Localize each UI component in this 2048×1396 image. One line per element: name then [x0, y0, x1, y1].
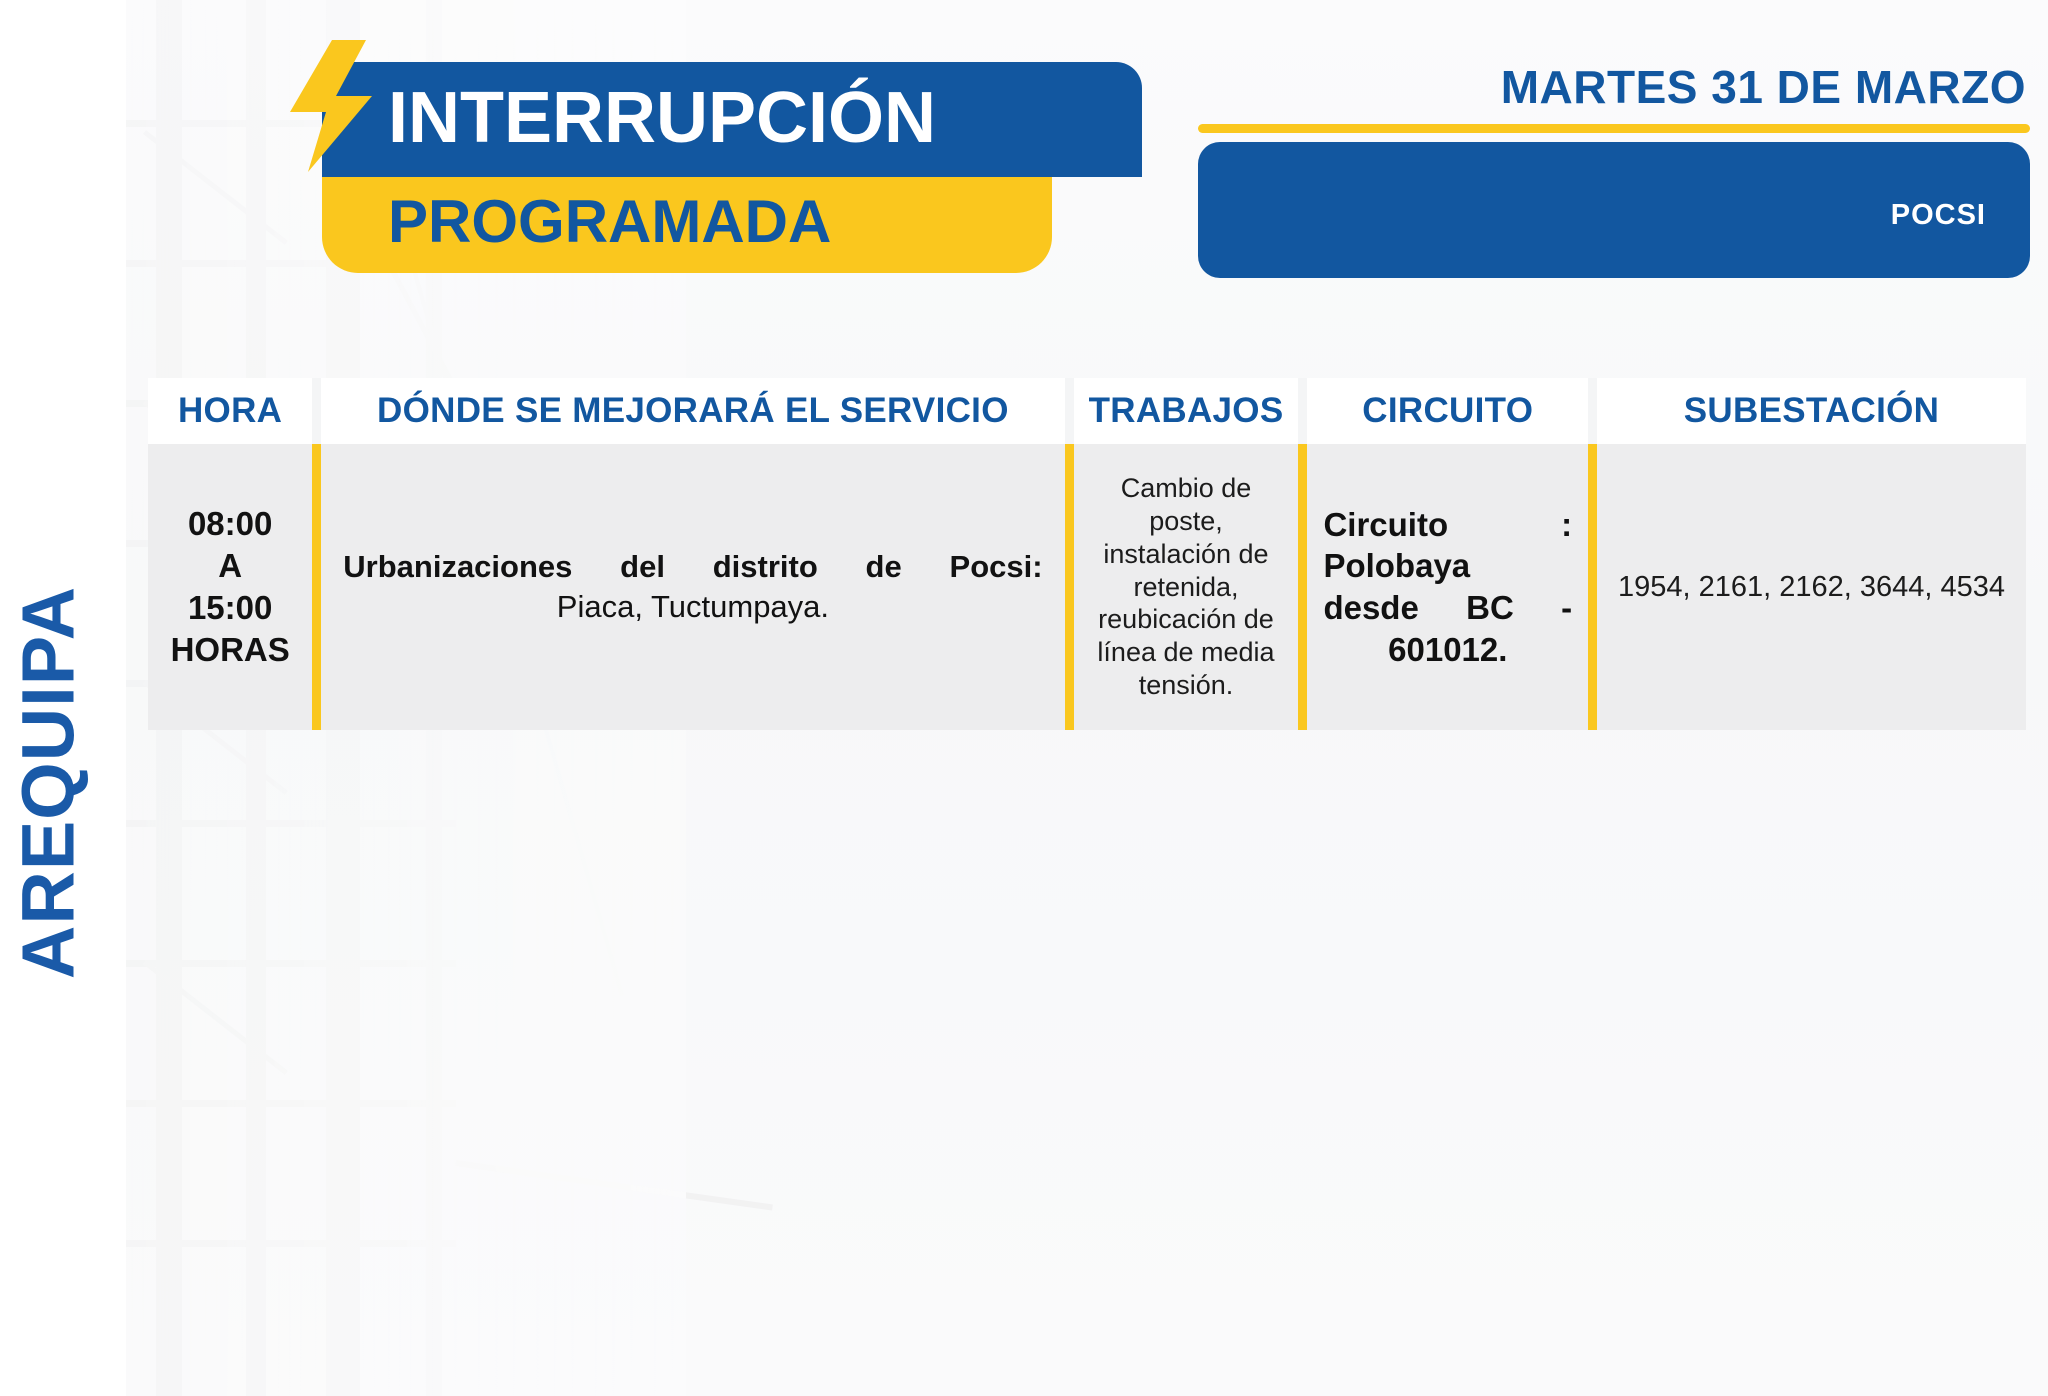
table-row: 08:00 A 15:00 HORAS Urbanizaciones del d… [148, 444, 2026, 730]
header-gap [1588, 378, 1597, 444]
column-header-subestacion: SUBESTACIÓN [1597, 378, 2026, 444]
region-label: AREQUIPA [6, 523, 91, 1043]
interruption-poster: INTERRUPCIÓN PROGRAMADA MARTES 31 DE MAR… [0, 0, 2048, 1396]
cell-hora: 08:00 A 15:00 HORAS [148, 444, 312, 730]
date-underline-rule [1198, 124, 2030, 133]
header-gap [1065, 378, 1074, 444]
column-header-circuito: CIRCUITO [1307, 378, 1588, 444]
column-divider [1065, 444, 1074, 730]
schedule-date: MARTES 31 DE MARZO [1501, 60, 2026, 114]
hora-line: A [164, 545, 296, 587]
lightning-bolt-icon [286, 40, 372, 172]
cell-circuito: Circuito : Polobaya desde BC - 601012. [1307, 444, 1588, 730]
column-divider [1298, 444, 1307, 730]
district-banner: Pocsi [1198, 142, 2030, 278]
lugar-title: Urbanizaciones del distrito de Pocsi: [337, 548, 1048, 586]
header-gap [1298, 378, 1307, 444]
column-header-hora: HORA [148, 378, 312, 444]
column-header-trabajos: TRABAJOS [1074, 378, 1299, 444]
cell-trabajos: Cambio de poste, instalación de retenida… [1074, 444, 1299, 730]
page-title: INTERRUPCIÓN [322, 62, 1142, 177]
column-header-lugar: DÓNDE SE MEJORARÁ EL SERVICIO [321, 378, 1064, 444]
column-divider [312, 444, 321, 730]
cell-lugar: Urbanizaciones del distrito de Pocsi: Pi… [321, 444, 1064, 730]
hora-line: HORAS [164, 629, 296, 671]
column-divider [1588, 444, 1597, 730]
circuito-text: Circuito : Polobaya desde BC - 601012. [1323, 504, 1572, 670]
poster-canvas: INTERRUPCIÓN PROGRAMADA MARTES 31 DE MAR… [126, 0, 2048, 1396]
interruptions-table: HORA DÓNDE SE MEJORARÁ EL SERVICIO TRABA… [148, 378, 2026, 730]
hora-line: 08:00 [164, 503, 296, 545]
page-subtitle: PROGRAMADA [322, 177, 1052, 272]
subestacion-text: 1954, 2161, 2162, 3644, 4534 [1613, 571, 2010, 604]
table-header-row: HORA DÓNDE SE MEJORARÁ EL SERVICIO TRABA… [148, 378, 2026, 444]
district-name: Pocsi [1891, 186, 1986, 234]
poster-title-block: INTERRUPCIÓN PROGRAMADA [322, 62, 1142, 273]
lugar-list: Piaca, Tuctumpaya. [337, 588, 1048, 626]
header-gap [312, 378, 321, 444]
cell-subestacion: 1954, 2161, 2162, 3644, 4534 [1597, 444, 2026, 730]
trabajos-text: Cambio de poste, instalación de retenida… [1090, 472, 1283, 703]
hora-line: 15:00 [164, 587, 296, 629]
